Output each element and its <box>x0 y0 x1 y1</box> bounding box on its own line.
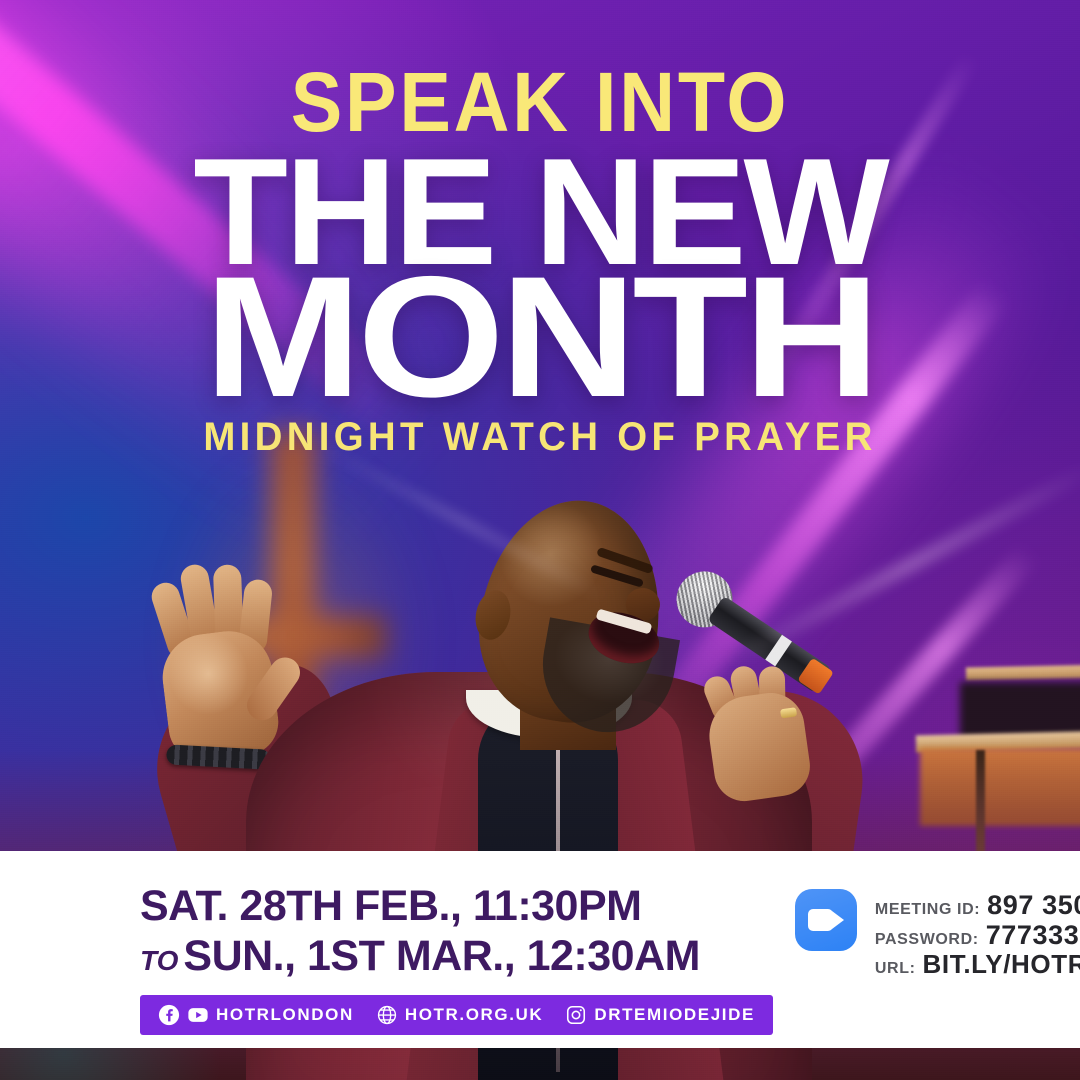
video-camera-glyph <box>808 909 844 931</box>
schedule-block: SAT. 28TH FEB., 11:30PM TOSUN., 1ST MAR.… <box>0 851 773 1035</box>
headline-block: SPEAK INTO THE NEW MONTH MIDNIGHT WATCH … <box>0 64 1080 460</box>
instagram-icon[interactable] <box>565 1004 587 1026</box>
date-line-2-text: SUN., 1ST MAR., 12:30AM <box>183 932 700 980</box>
youtube-icon[interactable] <box>187 1004 209 1026</box>
globe-icon[interactable] <box>376 1004 398 1026</box>
social-handle-instagram[interactable]: DRTEMIODEJIDE <box>594 1005 755 1025</box>
beaded-bracelet <box>166 744 271 769</box>
social-handle-facebook-youtube[interactable]: HOTRLONDON <box>216 1005 354 1025</box>
social-group-website[interactable]: HOTR.ORG.UK <box>376 1004 543 1026</box>
zoom-meeting-id-row: MEETING ID: 897 3504 6369 <box>875 890 1080 920</box>
zoom-url-label: URL: <box>875 960 916 978</box>
zoom-meeting-id-label: MEETING ID: <box>875 901 980 919</box>
zoom-video-icon[interactable] <box>795 889 857 951</box>
zoom-url-value[interactable]: BIT.LY/HOTRPRAYS <box>923 950 1080 979</box>
social-group-instagram[interactable]: DRTEMIODEJIDE <box>565 1004 755 1026</box>
title-line-2: MONTH <box>0 265 1080 409</box>
date-line-2: TOSUN., 1ST MAR., 12:30AM <box>140 935 773 978</box>
to-label: TO <box>140 945 183 976</box>
social-bar[interactable]: HOTRLONDON HOTR.ORG.UK DRTEMIODEJIDE <box>140 995 773 1035</box>
event-flyer: SPEAK INTO THE NEW MONTH MIDNIGHT WATCH … <box>0 0 1080 1080</box>
date-line-1: SAT. 28TH FEB., 11:30PM <box>140 885 773 928</box>
info-panel: SAT. 28TH FEB., 11:30PM TOSUN., 1ST MAR.… <box>0 851 1080 1048</box>
subtitle-text: MIDNIGHT WATCH OF PRAYER <box>22 415 1059 460</box>
zoom-url-row: URL: BIT.LY/HOTRPRAYS <box>875 950 1080 979</box>
zoom-password-row: PASSWORD: 7773331 <box>875 920 1080 950</box>
camera-body <box>808 909 833 931</box>
facebook-icon[interactable] <box>158 1004 180 1026</box>
microphone-hand <box>690 656 838 822</box>
social-group-hotrlondon[interactable]: HOTRLONDON <box>158 1004 354 1026</box>
zoom-password-value[interactable]: 7773331 <box>986 920 1080 950</box>
zoom-password-label: PASSWORD: <box>875 931 979 949</box>
light-ray-overlay <box>722 462 1080 668</box>
zoom-credentials: MEETING ID: 897 3504 6369 PASSWORD: 7773… <box>875 889 1080 980</box>
camera-lens <box>832 911 844 929</box>
event-dates: SAT. 28TH FEB., 11:30PM TOSUN., 1ST MAR.… <box>140 885 773 978</box>
zoom-details-block: MEETING ID: 897 3504 6369 PASSWORD: 7773… <box>773 851 1080 980</box>
social-handle-website[interactable]: HOTR.ORG.UK <box>405 1005 543 1025</box>
zoom-meeting-id-value[interactable]: 897 3504 6369 <box>987 890 1080 920</box>
